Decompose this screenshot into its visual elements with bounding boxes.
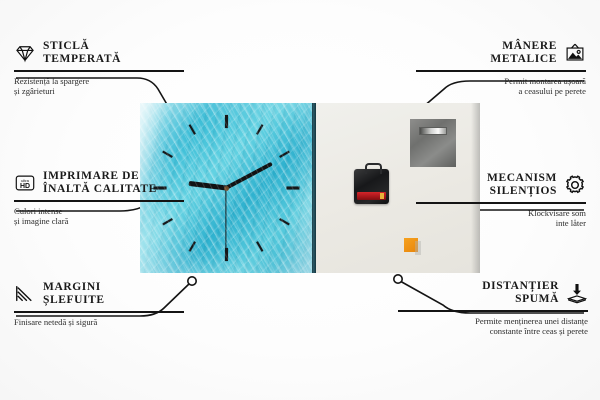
feature-title-line1: IMPRIMARE DE [43,170,139,182]
movement-hanging-loop [365,163,382,174]
clock-second-hand [225,188,226,248]
feature-title-line1: MÂNERE [502,40,557,52]
feature-title-line2: ÎNALTĂ CALITATE [43,183,157,195]
gear-icon [564,174,586,196]
feature-title-line2: SILENȚIOS [490,185,557,197]
feature-title-line1: MECANISM [487,172,557,184]
feature-desc-line1: Finisare netedă și sigură [14,317,97,327]
clock-tick [189,241,196,252]
feature-imprimare-inalta-calitate: ultra HD IMPRIMARE DE ÎNALTĂ CALITATE Cu… [14,170,184,227]
metal-hanger-bracket [410,119,456,167]
feature-mecanism-silentios: MECANISM SILENȚIOS Klockvisare som inte … [416,172,586,229]
svg-text:HD: HD [20,183,30,190]
feature-rule [416,202,586,204]
clock-tick [162,151,173,158]
clock-tick [256,241,263,252]
feature-rule [398,310,588,312]
picture-frame-hanger-icon [564,42,586,64]
feature-rule [14,311,184,313]
clock-tick [256,124,263,135]
clock-minute-hand [225,162,273,190]
diamond-icon [14,42,36,64]
feature-title-line1: STICLĂ [43,40,89,52]
feature-rule [416,70,586,72]
arrow-down-onto-layer-icon [566,282,588,304]
feature-desc-line2: inte låter [556,218,586,228]
clock-tick [287,187,300,190]
feature-sticla-temperata: STICLĂ TEMPERATĂ Rezistență la spargere … [14,40,184,97]
beveled-edge-icon [14,283,36,305]
feature-desc-line2: și imagine clară [14,216,68,226]
feature-title-line2: SPUMĂ [515,293,559,305]
battery [357,192,386,200]
feature-title-line2: TEMPERATĂ [43,53,121,65]
feature-rule [14,70,184,72]
feature-desc-line1: Rezistență la spargere [14,76,89,86]
feature-title-line2: ȘLEFUITE [43,294,105,306]
feature-margini-slefuite: MARGINI ȘLEFUITE Finisare netedă și sigu… [14,281,184,327]
feature-rule [14,200,184,202]
feature-manere-metalice: MÂNERE METALICE Permit montarea ușoară a… [416,40,586,97]
feature-desc-line1: Klockvisare som [528,208,586,218]
clock-tick [279,151,290,158]
feature-distantier-spuma: DISTANȚIER SPUMĂ Permite menținerea unei… [398,280,588,337]
clock-tick [225,115,228,128]
feature-desc-line2: și zgârieturi [14,86,55,96]
clock-hour-hand [188,181,226,191]
clock-tick [225,248,228,261]
feature-desc-line1: Permit montarea ușoară [504,76,586,86]
clock-tick [279,218,290,225]
infographic-canvas: STICLĂ TEMPERATĂ Rezistență la spargere … [0,0,600,400]
feature-desc-line1: Culori intense [14,206,62,216]
clock-tick [189,124,196,135]
clock-center-cap [224,186,229,191]
feature-desc-line1: Permite menținerea unei distanțe [475,316,588,326]
feature-title-line2: METALICE [490,53,557,65]
bracket-slot [419,127,447,135]
feature-title-line1: DISTANȚIER [482,280,559,292]
quartz-movement [354,169,389,204]
foam-spacer [404,238,418,252]
ultra-hd-icon: ultra HD [14,172,36,194]
feature-desc-line2: constante între ceas și perete [490,326,588,336]
feature-title-line1: MARGINI [43,281,101,293]
feature-desc-line2: a ceasului pe perete [518,86,586,96]
